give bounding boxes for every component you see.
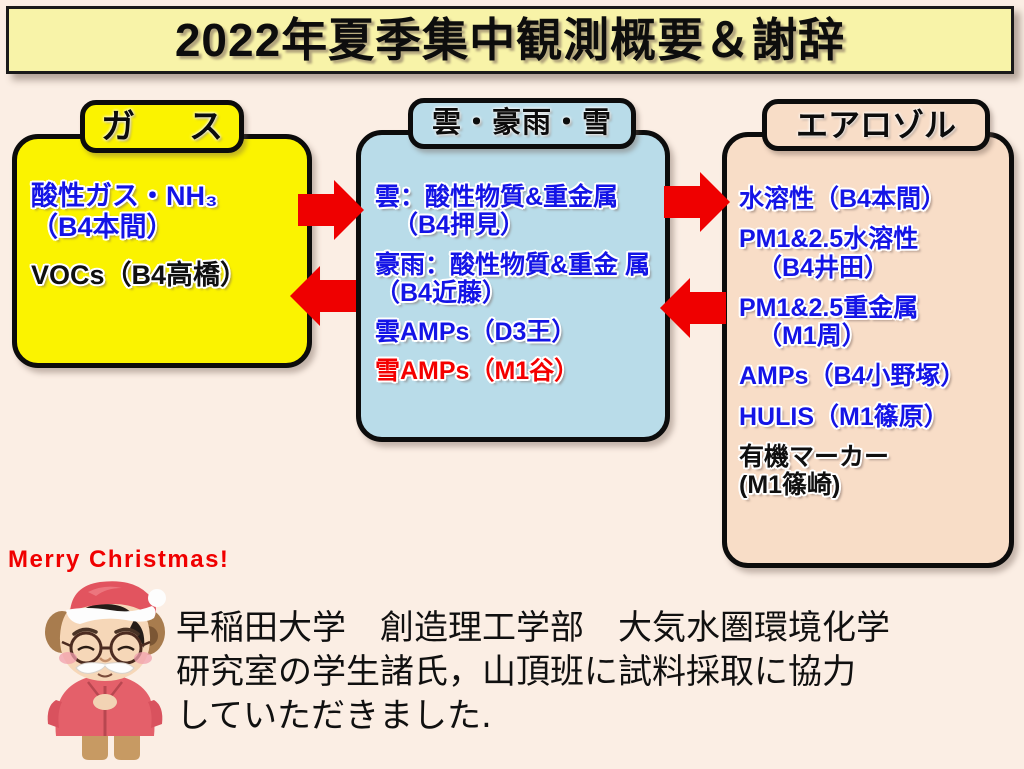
panel-cloud-header-tag: 雲・豪雨・雪 <box>408 98 636 149</box>
list-item: 有機マーカー (M1篠崎) <box>739 443 997 500</box>
list-item: 豪雨：酸性物質&重金 属（B4近藤） <box>375 251 651 308</box>
list-item: HULIS（M1篠原） <box>739 403 997 431</box>
panel-gas-header-tag: ガ ス <box>80 100 244 153</box>
merry-christmas-label: Merry Christmas! <box>8 546 229 574</box>
panel-cloud: 雲：酸性物質&重金属 （B4押見） 豪雨：酸性物質&重金 属（B4近藤） 雲AM… <box>356 130 670 442</box>
panel-gas-header-label: ガ ス <box>91 110 233 144</box>
arrow-gas-to-cloud-icon <box>298 180 364 240</box>
acknowledgement-line: 研究室の学生諸氏，山頂班に試料採取に協力 <box>176 650 1021 694</box>
acknowledgement-line: 早稲田大学 創造理工学部 大気水圏環境化学 <box>176 606 1021 650</box>
list-item: AMPs（B4小野塚） <box>739 362 997 390</box>
list-item: 雪AMPs（M1谷） <box>375 357 651 385</box>
item-line: 酸性ガス・NH₃ <box>31 181 217 211</box>
item-line: 雲：酸性物質&重金属 <box>375 183 618 211</box>
arrow-aerosol-to-cloud-icon <box>660 278 726 338</box>
item-line: (M1篠崎) <box>739 471 997 499</box>
item-line: HULIS（M1篠原） <box>739 403 949 431</box>
page-title: 2022年夏季集中観測概要＆謝辞 <box>175 17 845 63</box>
list-item: 雲AMPs（D3王） <box>375 318 651 346</box>
list-item: PM1&2.5水溶性 （B4井田） <box>739 225 997 282</box>
item-line: 水溶性（B4本間） <box>739 185 946 213</box>
list-item: PM1&2.5重金属 （M1周） <box>739 294 997 351</box>
item-line: （M1周） <box>739 322 997 350</box>
panel-cloud-item-list: 雲：酸性物質&重金属 （B4押見） 豪雨：酸性物質&重金 属（B4近藤） 雲AM… <box>361 183 665 397</box>
santa-character-illustration <box>26 578 184 769</box>
acknowledgement-text: 早稲田大学 創造理工学部 大気水圏環境化学 研究室の学生諸氏，山頂班に試料採取に… <box>176 606 1021 739</box>
list-item: 水溶性（B4本間） <box>739 185 997 213</box>
panel-gas-item-list: 酸性ガス・NH₃ （B4本間） VOCs（B4高橋） <box>17 181 307 309</box>
panel-aerosol-item-list: 水溶性（B4本間） PM1&2.5水溶性 （B4井田） PM1&2.5重金属 （… <box>727 185 1009 511</box>
item-line: VOCs（B4高橋） <box>31 260 247 290</box>
panel-aerosol-header-tag: エアロゾル <box>762 99 990 151</box>
acknowledgement-line: していただきました. <box>176 694 1021 738</box>
panel-aerosol-header-label: エアロゾル <box>796 109 956 141</box>
panel-gas: 酸性ガス・NH₃ （B4本間） VOCs（B4高橋） <box>12 134 312 368</box>
arrow-cloud-to-aerosol-icon <box>664 172 730 232</box>
list-item: VOCs（B4高橋） <box>31 260 293 291</box>
panel-aerosol: 水溶性（B4本間） PM1&2.5水溶性 （B4井田） PM1&2.5重金属 （… <box>722 132 1014 568</box>
item-line: 雲AMPs（D3王） <box>375 318 576 346</box>
item-line: 豪雨：酸性物質&重金 <box>375 251 618 279</box>
item-line: PM1&2.5水溶性 <box>739 225 918 253</box>
item-line: （B4本間） <box>31 212 174 242</box>
item-line: 有機マーカー <box>739 443 889 471</box>
item-line: （B4井田） <box>739 254 997 282</box>
list-item: 酸性ガス・NH₃ （B4本間） <box>31 181 293 242</box>
panel-cloud-header-label: 雲・豪雨・雪 <box>432 109 612 138</box>
list-item: 雲：酸性物質&重金属 （B4押見） <box>375 183 651 240</box>
title-banner: 2022年夏季集中観測概要＆謝辞 <box>6 6 1014 74</box>
item-line: PM1&2.5重金属 <box>739 294 918 322</box>
arrow-cloud-to-gas-icon <box>290 266 356 326</box>
item-line: AMPs（B4小野塚） <box>739 362 965 390</box>
item-line: 雪AMPs（M1谷） <box>375 357 579 385</box>
item-line: （B4押見） <box>375 211 651 239</box>
